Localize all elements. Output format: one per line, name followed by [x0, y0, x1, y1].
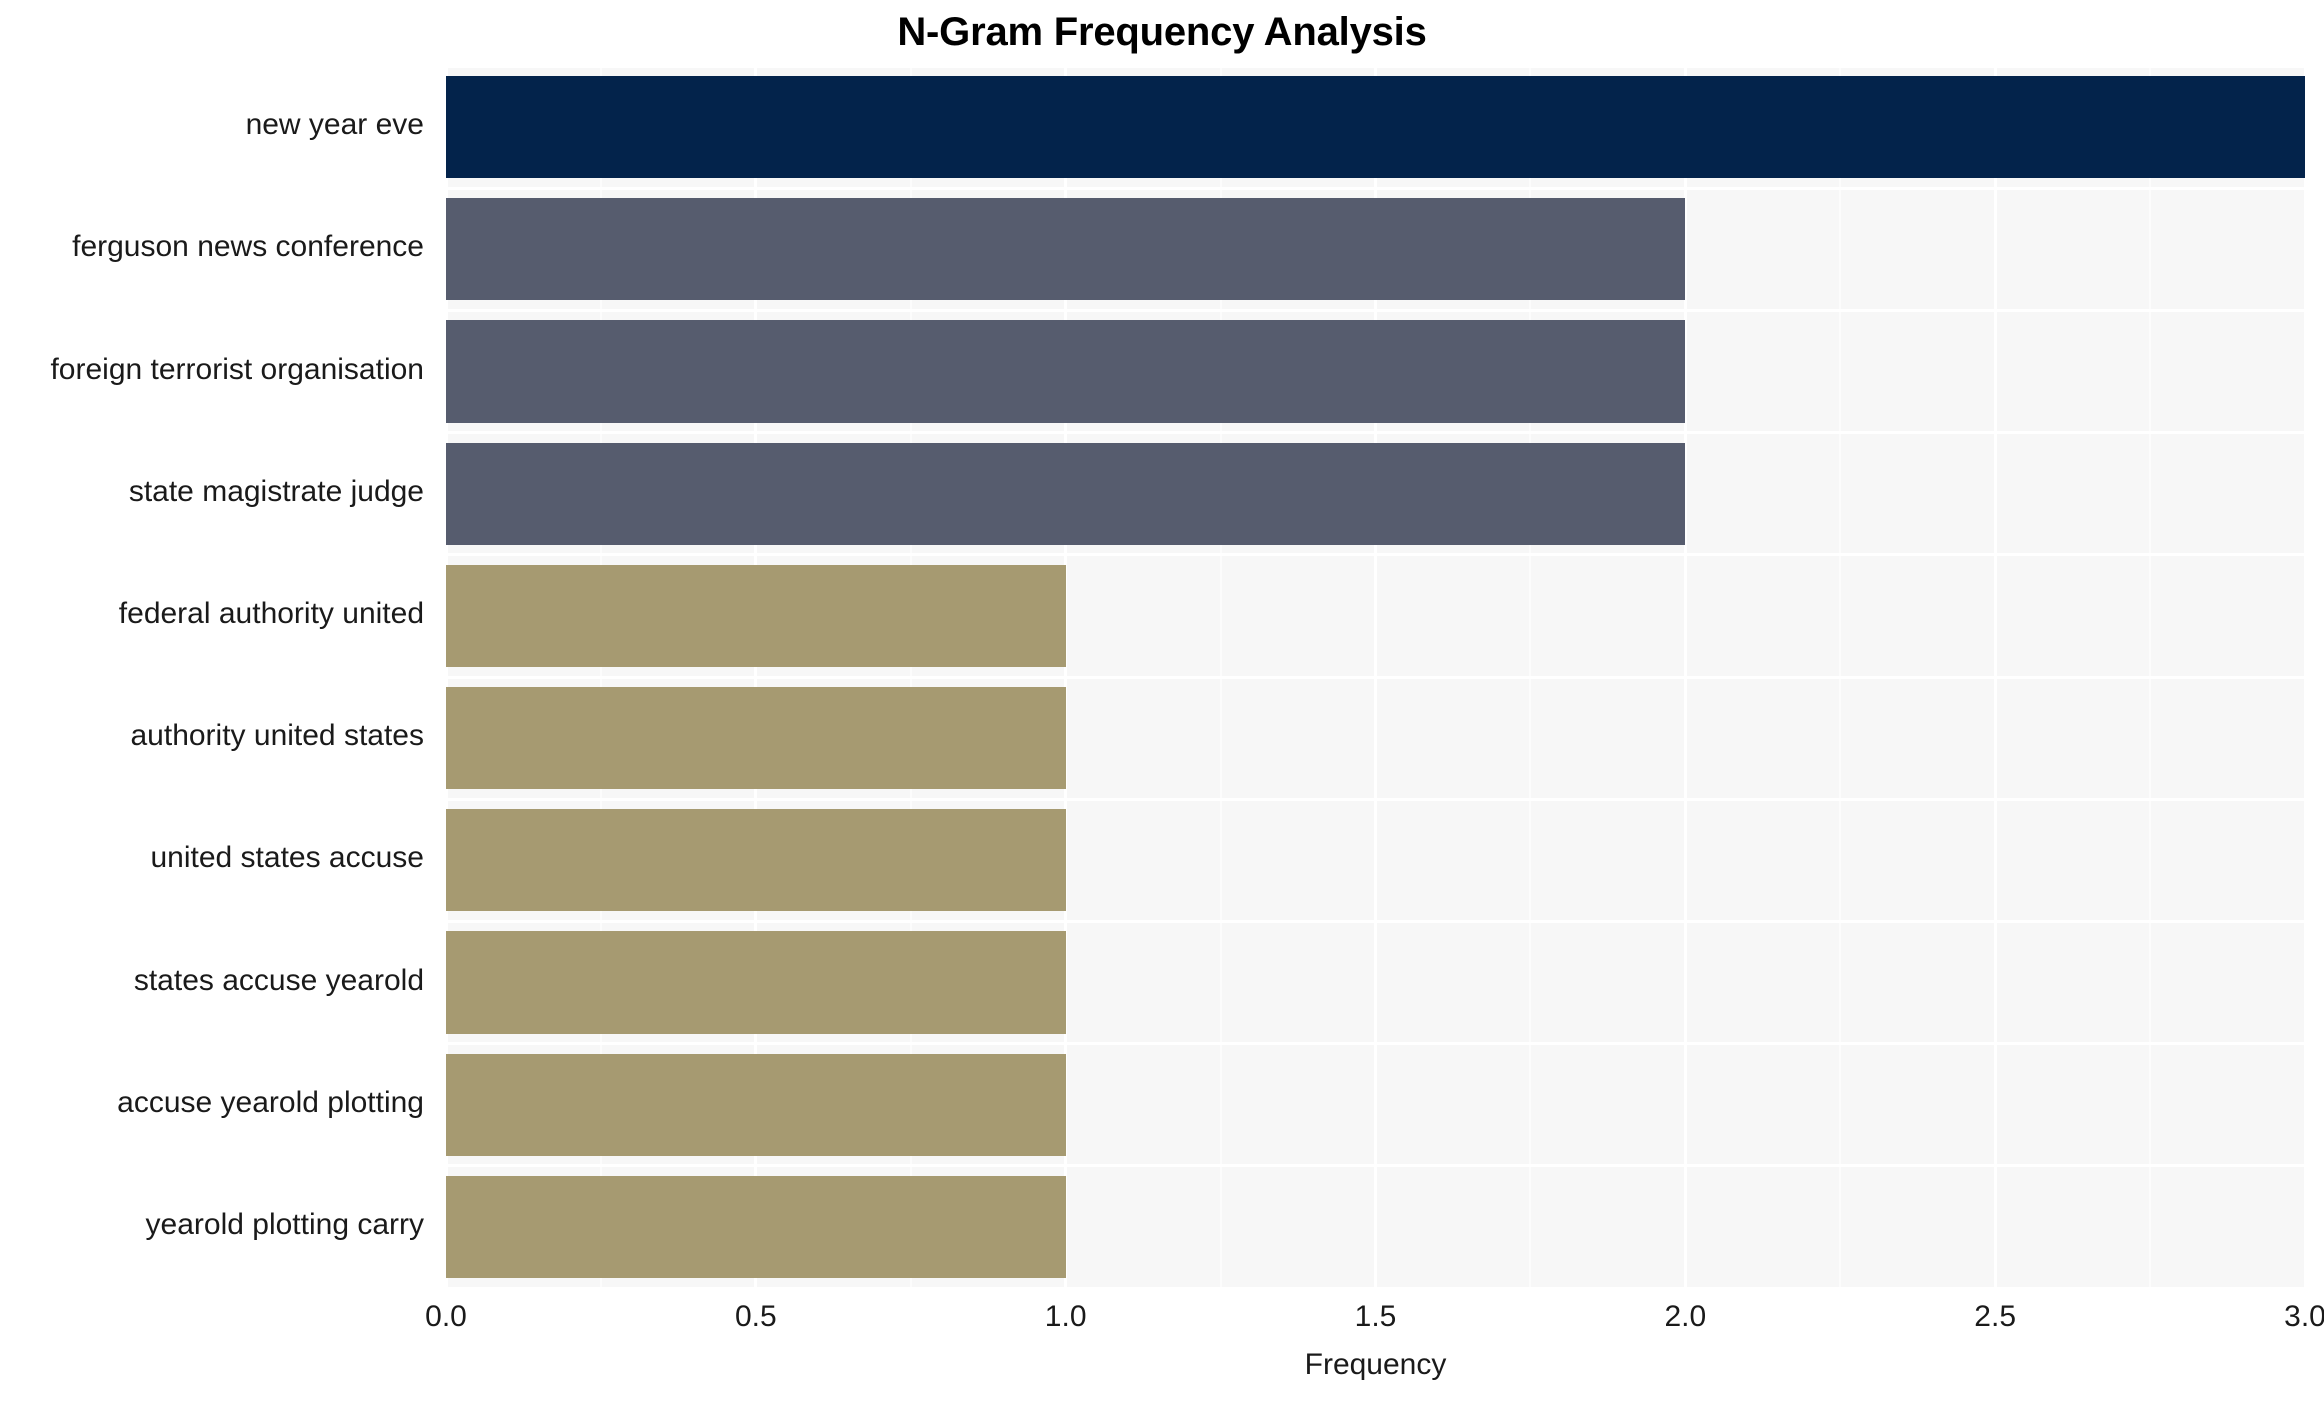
bar	[446, 809, 1066, 911]
y-axis-tick-label: states accuse yearold	[0, 964, 424, 998]
plot-panel	[446, 66, 2305, 1288]
y-axis-tick-label: federal authority united	[0, 597, 424, 631]
x-axis-tick-label: 1.5	[1355, 1300, 1397, 1334]
ngram-frequency-chart: N-Gram Frequency Analysis new year evefe…	[0, 0, 2324, 1402]
y-axis-tick-label: yearold plotting carry	[0, 1208, 424, 1242]
x-axis-tick-label: 1.0	[1045, 1300, 1087, 1334]
gridline-horizontal	[446, 1042, 2305, 1045]
bar	[446, 76, 2305, 178]
gridline-horizontal	[446, 1287, 2305, 1289]
bar	[446, 198, 1685, 300]
y-axis-tick-label: united states accuse	[0, 841, 424, 875]
y-axis-tick-label: new year eve	[0, 108, 424, 142]
bar	[446, 320, 1685, 422]
gridline-horizontal	[446, 553, 2305, 556]
gridline-horizontal	[446, 1164, 2305, 1167]
gridline-horizontal	[446, 309, 2305, 312]
bar	[446, 931, 1066, 1033]
x-axis-tick-label: 2.5	[1974, 1300, 2016, 1334]
y-axis-tick-label: ferguson news conference	[0, 230, 424, 264]
bar	[446, 565, 1066, 667]
gridline-horizontal	[446, 187, 2305, 190]
x-axis-tick-label: 0.5	[735, 1300, 777, 1334]
y-axis-tick-label: foreign terrorist organisation	[0, 353, 424, 387]
bar	[446, 1176, 1066, 1278]
y-axis-tick-label: authority united states	[0, 719, 424, 753]
bar	[446, 1054, 1066, 1156]
gridline-horizontal	[446, 431, 2305, 434]
x-axis-tick-label: 2.0	[1664, 1300, 1706, 1334]
bar	[446, 443, 1685, 545]
gridline-horizontal	[446, 798, 2305, 801]
gridline-horizontal	[446, 920, 2305, 923]
gridline-horizontal	[446, 676, 2305, 679]
bar	[446, 687, 1066, 789]
gridline-horizontal	[446, 66, 2305, 68]
y-axis-tick-label: state magistrate judge	[0, 475, 424, 509]
chart-title: N-Gram Frequency Analysis	[0, 8, 2324, 56]
y-axis-tick-label: accuse yearold plotting	[0, 1086, 424, 1120]
x-axis-tick-label: 0.0	[425, 1300, 467, 1334]
x-axis-tick-label: 3.0	[2284, 1300, 2324, 1334]
x-axis-title: Frequency	[446, 1348, 2305, 1382]
